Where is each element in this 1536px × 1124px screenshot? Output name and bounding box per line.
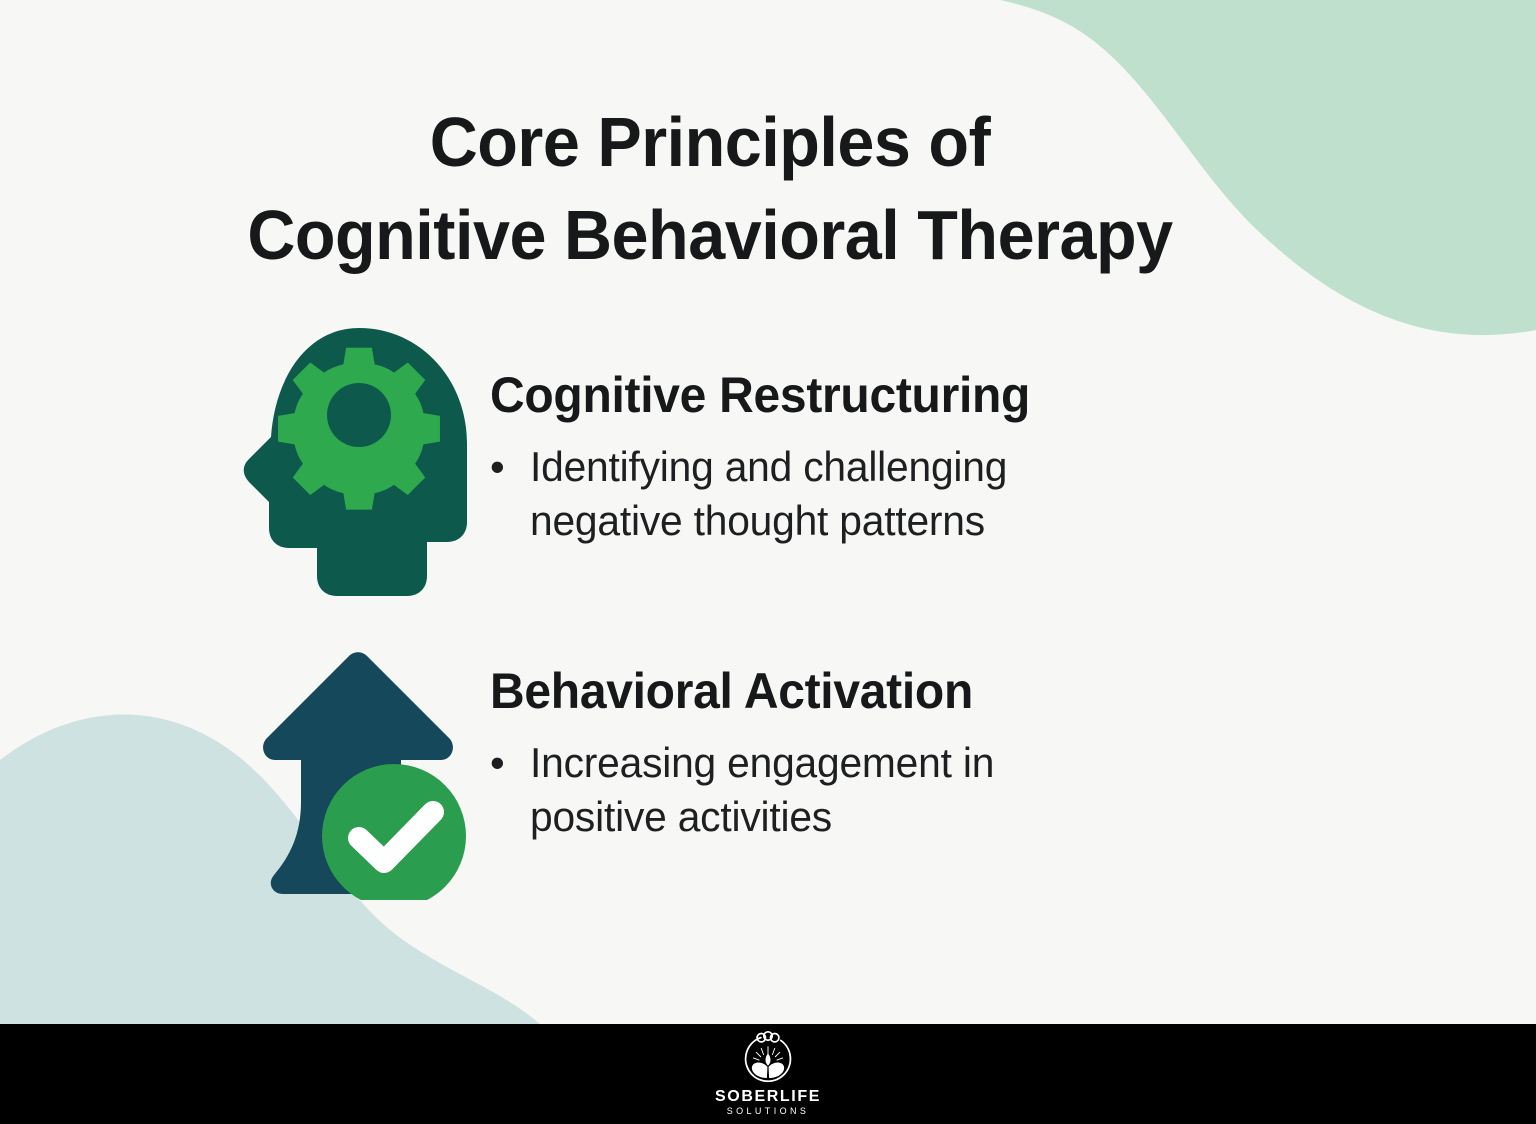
principle-text-cell: Behavioral Activation • Increasing engag… xyxy=(490,640,1009,844)
principle-item-cognitive-restructuring: Cognitive Restructuring • Identifying an… xyxy=(222,322,1053,606)
brand-wordmark: SOBERLIFE xyxy=(715,1088,821,1105)
head-gear-icon xyxy=(241,326,471,606)
bullet-text-line-2: positive activities xyxy=(530,793,832,840)
gear-shape xyxy=(278,348,440,510)
principle-heading: Behavioral Activation xyxy=(490,662,988,720)
bullet-marker-icon: • xyxy=(490,440,530,494)
upward-arrow-check-icon xyxy=(241,650,471,900)
list-item: • Increasing engagement in positive acti… xyxy=(490,736,1009,844)
footer-bar: SOBERLIFE SOLUTIONS xyxy=(0,1024,1536,1124)
principle-icon-cell xyxy=(222,640,490,900)
page-title-line-2: Cognitive Behavioral Therapy xyxy=(36,189,1385,282)
page-title: Core Principles of Cognitive Behavioral … xyxy=(0,96,1420,282)
principle-bullet-list: • Increasing engagement in positive acti… xyxy=(490,736,1009,844)
bullet-text: Identifying and challenging negative tho… xyxy=(530,440,1007,548)
bullet-text-line-2: negative thought patterns xyxy=(530,497,985,544)
principle-bullet-list: • Identifying and challenging negative t… xyxy=(490,440,1053,548)
principle-heading: Cognitive Restructuring xyxy=(490,366,1030,424)
list-item: • Identifying and challenging negative t… xyxy=(490,440,1053,548)
principle-icon-cell xyxy=(222,322,490,606)
brand-subwordmark: SOLUTIONS xyxy=(727,1106,810,1117)
brand-logo: SOBERLIFE SOLUTIONS xyxy=(715,1031,821,1117)
principle-item-behavioral-activation: Behavioral Activation • Increasing engag… xyxy=(222,640,1009,900)
bullet-text-line-1: Identifying and challenging xyxy=(530,443,1007,490)
lotus-hands-emblem-icon xyxy=(740,1031,796,1087)
bullet-marker-icon: • xyxy=(490,736,530,790)
bullet-text-line-1: Increasing engagement in xyxy=(530,739,994,786)
page-title-line-1: Core Principles of xyxy=(36,96,1385,189)
bullet-text: Increasing engagement in positive activi… xyxy=(530,736,994,844)
principle-text-cell: Cognitive Restructuring • Identifying an… xyxy=(490,322,1053,548)
infographic-canvas: Core Principles of Cognitive Behavioral … xyxy=(0,0,1536,1124)
